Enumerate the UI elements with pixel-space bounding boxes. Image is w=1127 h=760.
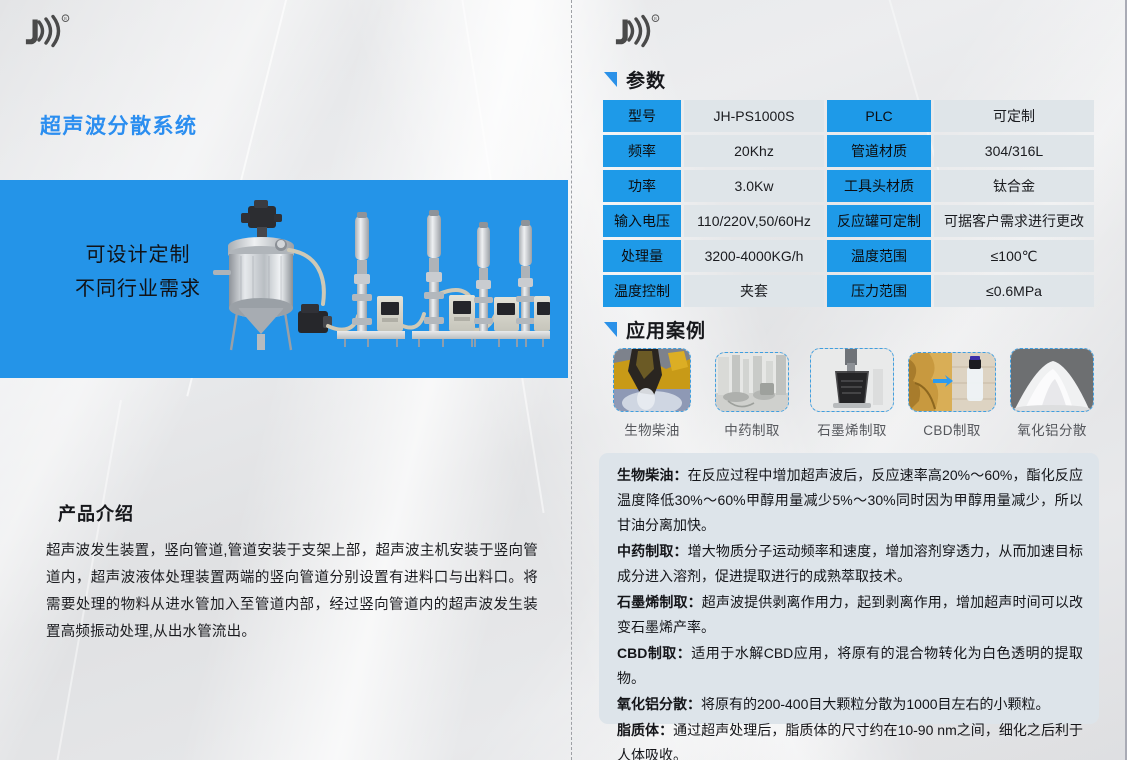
case-caption: CBD制取: [923, 419, 981, 439]
parameters-table: 型号 JH-PS1000S PLC 可定制 频率 20Khz 管道材质 304/…: [600, 97, 1097, 310]
description-paragraph: 生物柴油：在反应过程中增加超声波后，反应速率高20%～60%，酯化反应温度降低3…: [617, 463, 1083, 538]
jh-sonic-logo-icon: R: [604, 12, 662, 52]
case-caption: 氧化铝分散: [1017, 419, 1087, 439]
case-caption: 中药制取: [724, 419, 780, 439]
list-item[interactable]: 中药制取: [702, 348, 802, 439]
hero-tagline: 可设计定制 不同行业需求: [48, 238, 228, 306]
description-text: 在反应过程中增加超声波后，反应速率高20%～60%，酯化反应温度降低30%～60…: [617, 467, 1083, 533]
description-paragraph: CBD制取：适用于水解CBD应用，将原有的混合物转化为白色透明的提取物。: [617, 641, 1083, 691]
table-row: 型号 JH-PS1000S PLC 可定制: [603, 100, 1094, 132]
case-caption: 生物柴油: [624, 419, 680, 439]
param-value: ≤100℃: [934, 240, 1094, 272]
param-value: 20Khz: [684, 135, 824, 167]
product-intro-body: 超声波发生装置，竖向管道,管道安装于支架上部，超声波主机安装于竖向管道内，超声波…: [46, 538, 538, 646]
table-row: 功率 3.0Kw 工具头材质 钛合金: [603, 170, 1094, 202]
table-row: 处理量 3200-4000KG/h 温度范围 ≤100℃: [603, 240, 1094, 272]
description-paragraph: 石墨烯制取：超声波提供剥离作用力，起到剥离作用，增加超声时间可以改变石墨烯产率。: [617, 590, 1083, 640]
description-text: 将原有的200-400目大颗粒分散为1000目左右的小颗粒。: [701, 696, 1050, 712]
list-item[interactable]: 生物柴油: [602, 348, 702, 439]
product-intro-title: 产品介绍: [58, 500, 134, 526]
description-term: 脂质体：: [617, 722, 673, 738]
svg-text:R: R: [654, 16, 657, 21]
cbd-thumb: [908, 352, 996, 412]
triangle-bullet-icon: [604, 322, 617, 337]
param-value: 110/220V,50/60Hz: [684, 205, 824, 237]
description-term: 中药制取：: [617, 543, 688, 559]
case-caption: 石墨烯制取: [817, 419, 887, 439]
param-value: 304/316L: [934, 135, 1094, 167]
param-key: 型号: [603, 100, 681, 132]
param-key: 频率: [603, 135, 681, 167]
param-key: 功率: [603, 170, 681, 202]
param-key: 处理量: [603, 240, 681, 272]
right-panel: R 参数 型号 JH-PS1000S PLC 可定制 频率 20Khz 管道材质: [572, 0, 1125, 760]
table-row: 温度控制 夹套 压力范围 ≤0.6MPa: [603, 275, 1094, 307]
parameters-section-header: 参数: [604, 66, 666, 93]
triangle-bullet-icon: [604, 72, 617, 87]
table-row: 输入电压 110/220V,50/60Hz 反应罐可定制 可据客户需求进行更改: [603, 205, 1094, 237]
hero-banner: 可设计定制 不同行业需求: [0, 180, 568, 378]
ultrasonic-dispersion-machine-photo: [205, 198, 550, 363]
param-value: 3.0Kw: [684, 170, 824, 202]
description-paragraph: 氧化铝分散：将原有的200-400目大颗粒分散为1000目左右的小颗粒。: [617, 692, 1083, 717]
param-value: ≤0.6MPa: [934, 275, 1094, 307]
alumina-thumb: [1010, 348, 1094, 412]
description-text: 通过超声处理后，脂质体的尺寸约在10-90 nm之间，细化之后利于人体吸收。: [617, 722, 1083, 760]
param-value: 可定制: [934, 100, 1094, 132]
description-term: 石墨烯制取：: [617, 594, 702, 610]
param-value: 钛合金: [934, 170, 1094, 202]
biodiesel-thumb: [613, 348, 691, 412]
tcm-extraction-thumb: [715, 352, 789, 412]
param-key: 反应罐可定制: [827, 205, 931, 237]
svg-text:R: R: [64, 16, 67, 21]
application-cases-list: 生物柴油: [602, 348, 1102, 439]
list-item[interactable]: 石墨烯制取: [802, 348, 902, 439]
description-term: 生物柴油：: [617, 467, 688, 483]
description-term: 氧化铝分散：: [617, 696, 701, 712]
description-text: 增大物质分子运动频率和速度，增加溶剂穿透力，从而加速目标成分进入溶剂，促进提取进…: [617, 543, 1083, 584]
param-key: 温度范围: [827, 240, 931, 272]
left-panel: R 超声波分散系统 可设计定制 不同行业需求: [0, 0, 572, 760]
parameters-heading-label: 参数: [626, 66, 666, 93]
jh-sonic-logo-icon: R: [14, 12, 72, 52]
description-paragraph: 中药制取：增大物质分子运动频率和速度，增加溶剂穿透力，从而加速目标成分进入溶剂，…: [617, 539, 1083, 589]
description-term: CBD制取：: [617, 645, 691, 661]
param-value: 可据客户需求进行更改: [934, 205, 1094, 237]
param-key: 管道材质: [827, 135, 931, 167]
param-key: 压力范围: [827, 275, 931, 307]
param-key: PLC: [827, 100, 931, 132]
list-item[interactable]: CBD制取: [902, 348, 1002, 439]
application-cases-section-header: 应用案例: [604, 316, 706, 343]
param-key: 工具头材质: [827, 170, 931, 202]
param-value: 夹套: [684, 275, 824, 307]
param-key: 温度控制: [603, 275, 681, 307]
description-paragraph: 脂质体：通过超声处理后，脂质体的尺寸约在10-90 nm之间，细化之后利于人体吸…: [617, 718, 1083, 760]
application-descriptions-box: 生物柴油：在反应过程中增加超声波后，反应速率高20%～60%，酯化反应温度降低3…: [599, 453, 1099, 724]
graphene-thumb: [810, 348, 894, 412]
hero-tagline-line1: 可设计定制: [48, 238, 228, 272]
param-value: JH-PS1000S: [684, 100, 824, 132]
page-title: 超声波分散系统: [40, 110, 198, 140]
application-cases-heading-label: 应用案例: [626, 316, 706, 343]
param-key: 输入电压: [603, 205, 681, 237]
list-item[interactable]: 氧化铝分散: [1002, 348, 1102, 439]
product-datasheet-page: R 超声波分散系统 可设计定制 不同行业需求: [0, 0, 1127, 760]
hero-tagline-line2: 不同行业需求: [48, 272, 228, 306]
param-value: 3200-4000KG/h: [684, 240, 824, 272]
table-row: 频率 20Khz 管道材质 304/316L: [603, 135, 1094, 167]
